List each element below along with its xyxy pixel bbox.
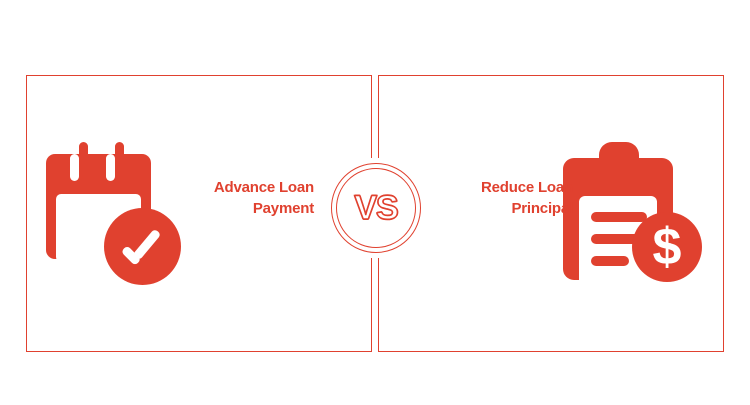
comparison-graphic: Advance Loan Payment $ Reduce Loan Princ… — [0, 0, 750, 405]
calendar-notch-right — [106, 154, 115, 181]
clipboard-text-line — [591, 256, 629, 266]
calendar-check-icon — [46, 142, 186, 287]
dollar-sign-glyph: $ — [632, 212, 702, 282]
check-mark-icon — [124, 229, 162, 249]
check-circle-icon — [104, 208, 181, 285]
vs-label: VS — [331, 163, 421, 253]
vs-badge-icon: VS — [331, 163, 421, 253]
option-label-left: Advance Loan Payment — [178, 177, 314, 219]
clipboard-dollar-icon: $ — [563, 142, 708, 287]
calendar-notch-left — [70, 154, 79, 181]
dollar-circle-icon: $ — [632, 212, 702, 282]
option-label-right: Reduce Loan Principal — [437, 177, 573, 219]
